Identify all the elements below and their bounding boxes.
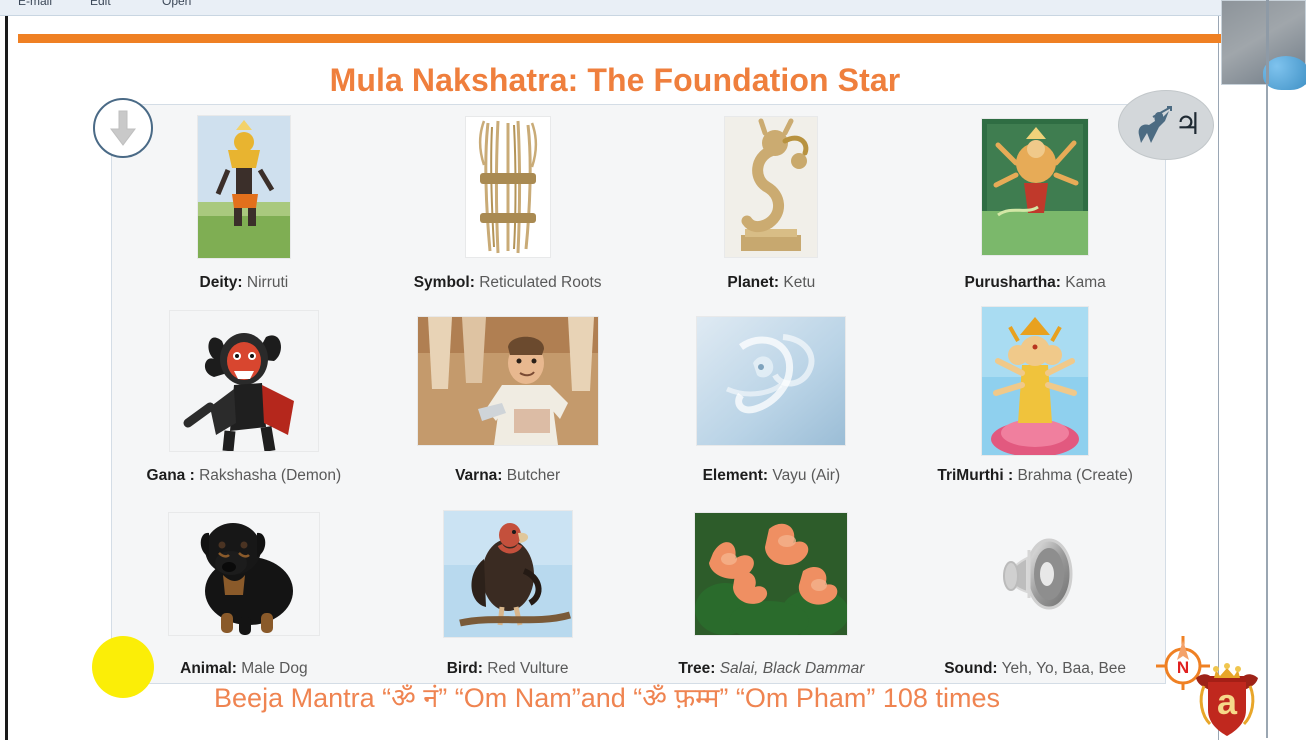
ketu-carving-image [640, 105, 904, 270]
attribute-value: Nirruti [247, 274, 288, 291]
attribute-label: Tree: Salai, Black Dammar [678, 656, 864, 679]
attribute-row: Gana : Rakshasha (Demon) [112, 298, 1167, 491]
attribute-cell-gana: Gana : Rakshasha (Demon) [112, 298, 376, 491]
air-element-image [640, 298, 904, 463]
attribute-value: Male Dog [241, 660, 307, 677]
attribute-value: Kama [1065, 274, 1106, 291]
red-vulture-image [376, 492, 640, 657]
attribute-cell-varna: Varna: Butcher [376, 298, 640, 491]
video-panel-divider-lower [1266, 84, 1268, 738]
slide-canvas: Mula Nakshatra: The Foundation Star [5, 16, 1219, 740]
video-overlay-highlight [1263, 56, 1306, 90]
attribute-label: Sound: Yeh, Yo, Baa, Bee [944, 656, 1126, 679]
attribute-value: Reticulated Roots [479, 274, 601, 291]
beeja-mantra-text: Beeja Mantra “ॐ नं” “Om Nam”and “ॐ फ़म्म… [0, 678, 1214, 715]
attribute-cell-symbol: Symbol: Reticulated Roots [376, 105, 640, 298]
attribute-label: Bird: Red Vulture [447, 656, 569, 679]
slide-title: Mula Nakshatra: The Foundation Star [8, 62, 1222, 99]
video-panel-divider [1266, 0, 1269, 84]
attribute-key: Sound: [944, 660, 997, 677]
attribute-label: Purushartha: Kama [964, 270, 1105, 293]
attribute-value: Ketu [783, 274, 815, 291]
attribute-key: Bird: [447, 660, 483, 677]
menu-item-edit[interactable]: Edit [90, 0, 111, 8]
attribute-cell-planet: Planet: Ketu [640, 105, 904, 298]
brahma-deity-image [903, 298, 1167, 463]
speaker-icon [903, 492, 1167, 657]
attribute-label: TriMurthi : Brahma (Create) [937, 463, 1133, 486]
attribute-row: Animal: Male Dog [112, 492, 1167, 685]
attribute-key: Animal: [180, 660, 237, 677]
menu-item-email[interactable]: E-mail [18, 0, 52, 8]
tree-image [640, 492, 904, 657]
attribute-key: Varna: [455, 467, 502, 484]
attribute-key: Gana : [147, 467, 195, 484]
male-dog-image [112, 492, 376, 657]
zodiac-badge[interactable]: ♃ [1118, 90, 1214, 160]
attribute-label: Deity: Nirruti [200, 270, 289, 293]
down-arrow-icon[interactable] [93, 98, 153, 158]
attribute-key: Purushartha: [964, 274, 1060, 291]
rakshasha-demon-image [112, 298, 376, 463]
attribute-key: Tree: [678, 660, 715, 677]
attribute-label: Varna: Butcher [455, 463, 560, 486]
attribute-key: Deity: [200, 274, 243, 291]
attribute-value: Rakshasha (Demon) [199, 467, 341, 484]
attribute-cell-sound: Sound: Yeh, Yo, Baa, Bee [903, 492, 1167, 685]
attribute-label: Element: Vayu (Air) [703, 463, 841, 486]
attribute-key: TriMurthi : [937, 467, 1013, 484]
slide-accent-bar [18, 34, 1222, 43]
attribute-value: Butcher [507, 467, 560, 484]
attribute-value: Red Vulture [487, 660, 568, 677]
attribute-key: Planet: [727, 274, 779, 291]
app-menu-bar: E-mail Edit Open [0, 0, 1306, 16]
crest-letter: a [1217, 681, 1238, 722]
attribute-label: Planet: Ketu [727, 270, 815, 293]
jupiter-glyph: ♃ [1175, 110, 1202, 140]
presenter-video-thumbnail[interactable] [1221, 0, 1306, 85]
right-margin [1268, 0, 1306, 740]
attribute-row: Deity: Nirruti [112, 105, 1167, 298]
attribute-key: Element: [703, 467, 768, 484]
attribute-label: Gana : Rakshasha (Demon) [147, 463, 342, 486]
butcher-painting-image [376, 298, 640, 463]
attribute-value: Vayu (Air) [772, 467, 840, 484]
attribute-cell-trimurthi: TriMurthi : Brahma (Create) [903, 298, 1167, 491]
attribute-label: Animal: Male Dog [180, 656, 308, 679]
attribute-key: Symbol: [414, 274, 475, 291]
attribute-cell-tree: Tree: Salai, Black Dammar [640, 492, 904, 685]
attribute-cell-bird: Bird: Red Vulture [376, 492, 640, 685]
attribute-value: Brahma (Create) [1017, 467, 1132, 484]
presentation-screen: E-mail Edit Open Mula Nakshatra: The Fou… [0, 0, 1306, 740]
roots-bundle-image [376, 105, 640, 270]
menu-item-open[interactable]: Open [162, 0, 191, 8]
attribute-grid-panel: Deity: Nirruti [111, 104, 1166, 684]
attribute-value: Salai, Black Dammar [720, 660, 865, 677]
attribute-cell-element: Element: Vayu (Air) [640, 298, 904, 491]
sagittarius-archer-icon [1131, 105, 1173, 145]
attribute-value: Yeh, Yo, Baa, Bee [1002, 660, 1126, 677]
attribute-label: Symbol: Reticulated Roots [414, 270, 602, 293]
